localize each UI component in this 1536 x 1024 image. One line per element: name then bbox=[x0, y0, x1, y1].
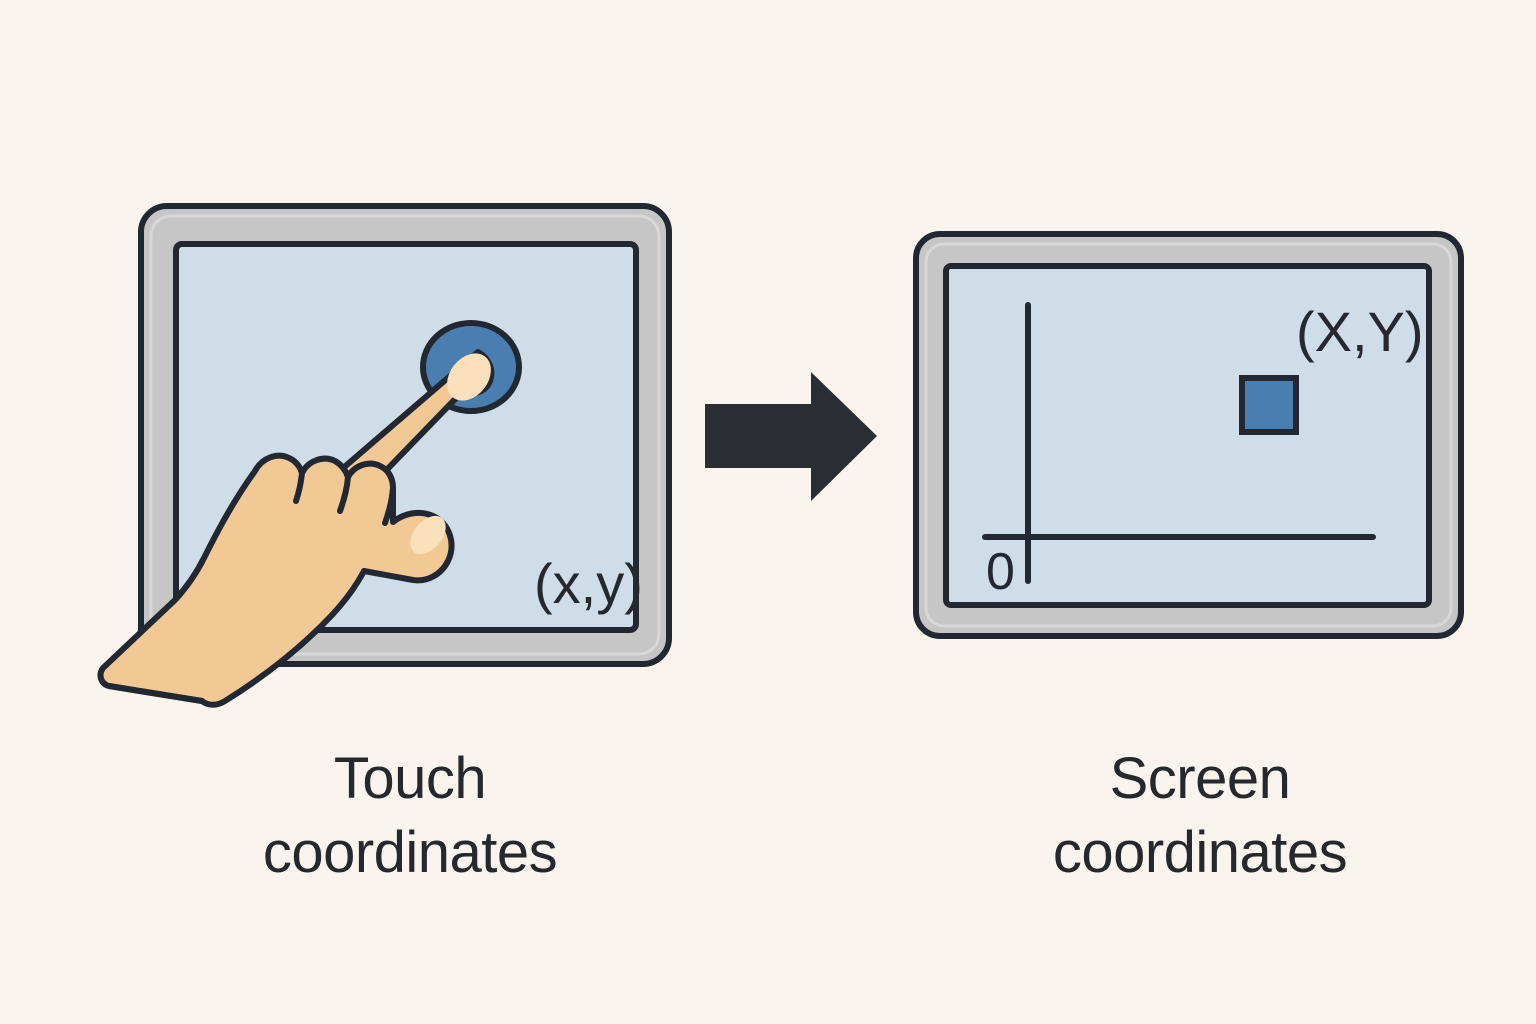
origin-label: 0 bbox=[986, 543, 1015, 601]
arrow-right-icon bbox=[705, 372, 877, 501]
diagram-canvas: (x,y) (X,Y) 0 Touch coordinates Screen c… bbox=[0, 0, 1536, 1024]
touch-coordinate-label: (x,y) bbox=[534, 552, 643, 615]
transform-arrow bbox=[705, 372, 877, 501]
left-panel-caption: Touch coordinates bbox=[140, 742, 680, 890]
right-panel-caption: Screen coordinates bbox=[930, 742, 1470, 890]
screen-coordinate-label: (X,Y) bbox=[1296, 300, 1424, 363]
screen-point-marker bbox=[1242, 378, 1296, 432]
